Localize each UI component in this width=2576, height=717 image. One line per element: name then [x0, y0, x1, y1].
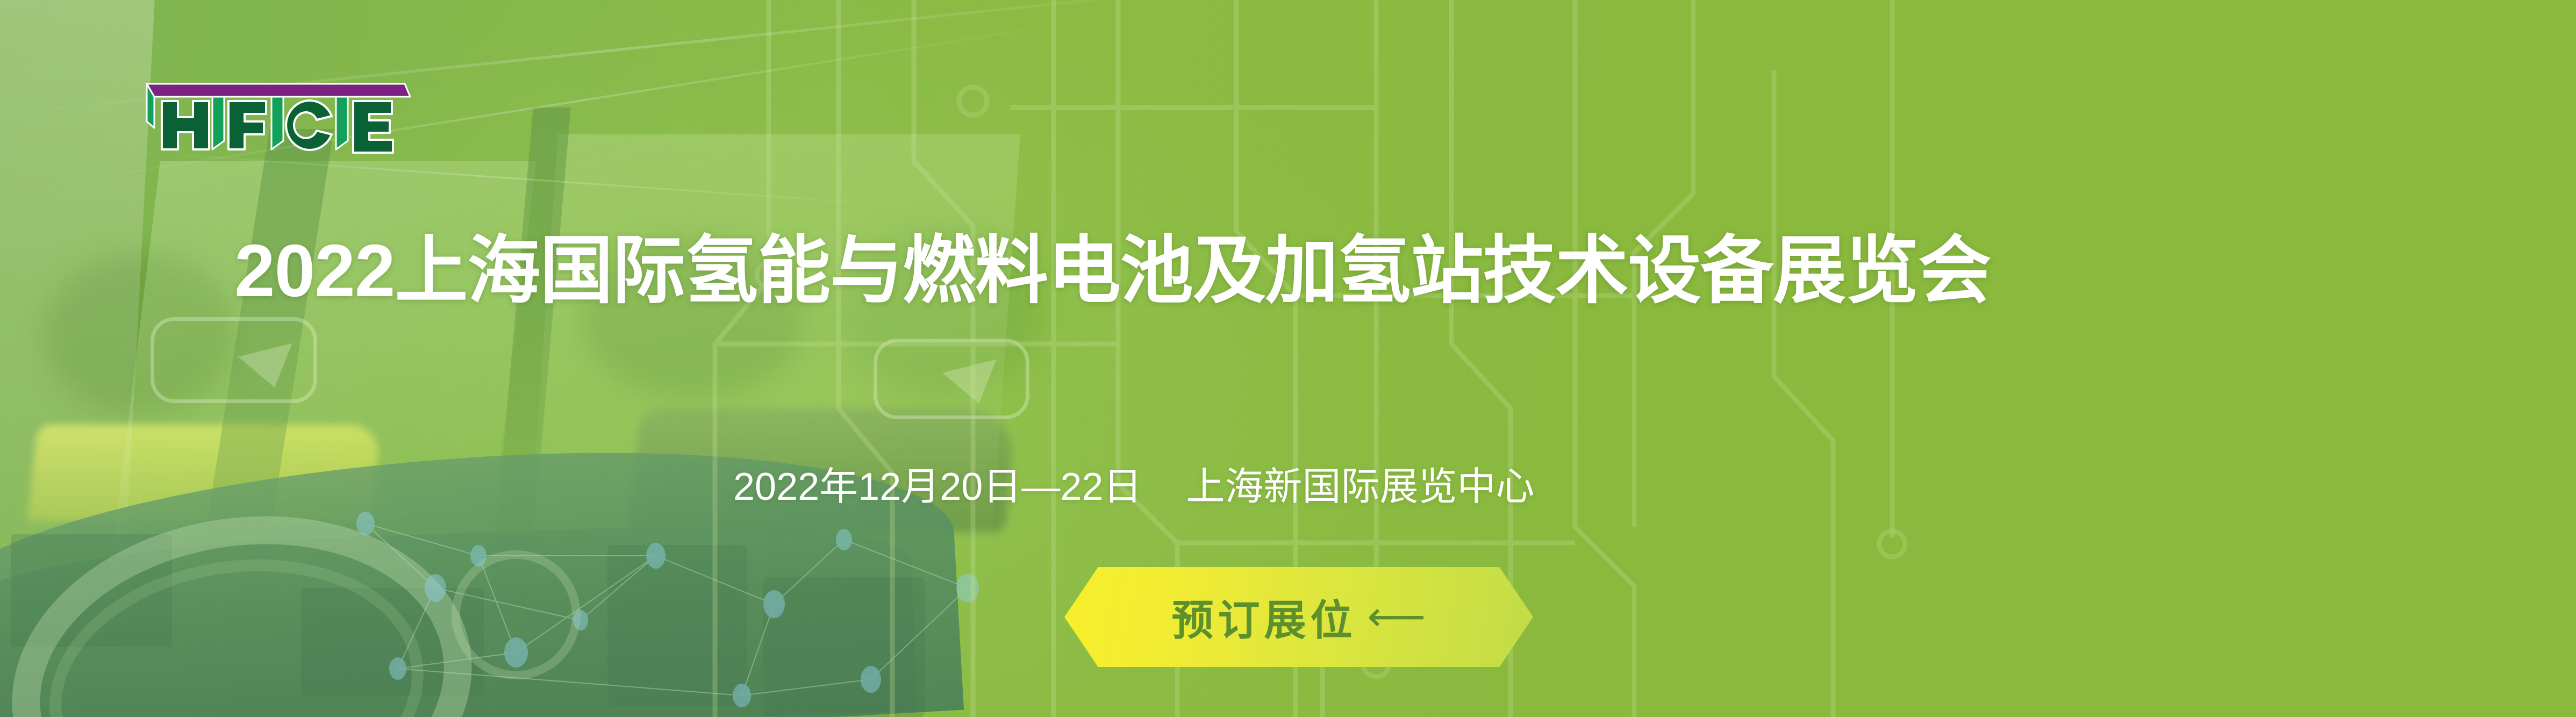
hfce-logo[interactable] [142, 81, 411, 164]
logo-side-face-1 [212, 97, 224, 149]
logo-letter-e [353, 101, 393, 153]
book-booth-button[interactable]: 预订展位 ⟵ [1064, 567, 1533, 667]
logo-letter-f [228, 101, 266, 149]
cta-text: 预订展位 [1172, 587, 1357, 647]
hfce-expo-banner: 2022上海国际氢能与燃料电池及加氢站技术设备展览会 2022年12月20日—2… [0, 0, 2576, 717]
logo-letter-h [162, 101, 209, 149]
event-venue: 上海新国际展览中心 [1186, 465, 1534, 508]
event-date: 2022年12月20日—22日 [733, 465, 1142, 508]
event-details: 2022年12月20日—22日 上海新国际展览中心 [733, 455, 1534, 511]
logo-side-face-3 [336, 97, 348, 149]
logo-top-bar [147, 84, 410, 97]
book-booth-button-label: 预订展位 ⟵ [1172, 587, 1426, 647]
logo-letter-c [286, 101, 332, 150]
page-title: 2022上海国际氢能与燃料电池及加氢站技术设备展览会 [234, 228, 1991, 314]
arrow-left-icon: ⟵ [1368, 597, 1426, 637]
logo-side-face-2 [271, 97, 283, 149]
